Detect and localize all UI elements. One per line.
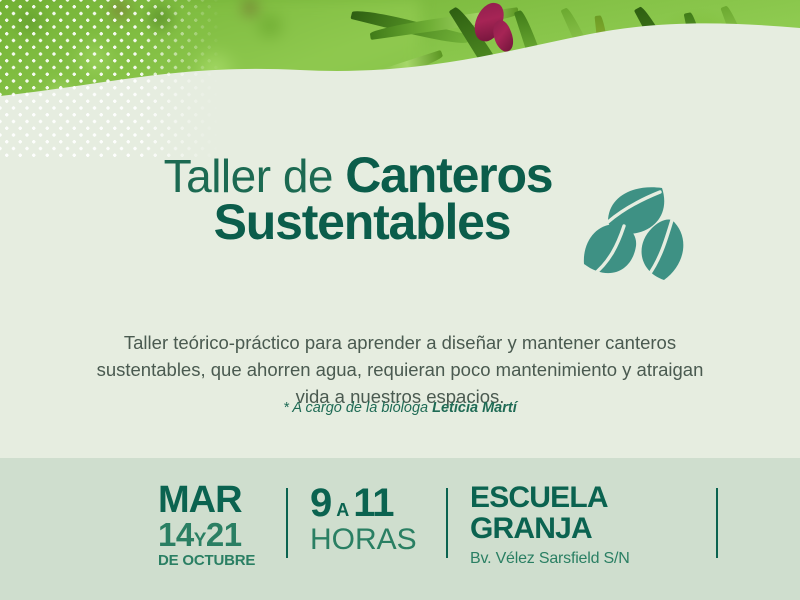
headline-bold-text-2: Sustentables xyxy=(214,194,511,250)
description-text: Taller teórico-práctico para aprender a … xyxy=(80,329,720,411)
poster-canvas: Taller de Canteros Sustentables Taller t… xyxy=(0,0,800,600)
date-conjunction: Y xyxy=(194,530,206,551)
place-line-1: ESCUELA xyxy=(470,482,630,513)
place-address: Bv. Vélez Sarsfield S/N xyxy=(470,550,630,568)
date-day-2: 21 xyxy=(206,516,242,553)
byline: * A cargo de la bióloga Leticia Martí xyxy=(80,400,720,416)
date-day-1: 14 xyxy=(158,516,194,553)
divider-2 xyxy=(446,488,448,558)
date-month: DE OCTUBRE xyxy=(158,552,255,570)
recycle-leaves-icon xyxy=(578,182,696,290)
time-end: 11 xyxy=(353,481,393,525)
time-range: 9A11 xyxy=(310,484,417,523)
byline-name: Leticia Martí xyxy=(432,400,517,416)
info-row: MAR 14Y21 DE OCTUBRE 9A11 HORAS ESCUELA … xyxy=(0,458,800,600)
time-block: 9A11 HORAS xyxy=(310,484,417,557)
time-start: 9 xyxy=(310,481,331,525)
date-weekday: MAR xyxy=(158,482,255,518)
divider-1 xyxy=(286,488,288,558)
date-days: 14Y21 xyxy=(158,518,255,552)
byline-prefix: * A cargo de la bióloga xyxy=(283,400,432,416)
place-line-2: GRANJA xyxy=(470,513,630,544)
time-unit: HORAS xyxy=(310,523,417,557)
place-block: ESCUELA GRANJA Bv. Vélez Sarsfield S/N xyxy=(470,482,630,568)
divider-3 xyxy=(716,488,718,558)
info-bar: MAR 14Y21 DE OCTUBRE 9A11 HORAS ESCUELA … xyxy=(0,458,800,600)
date-block: MAR 14Y21 DE OCTUBRE xyxy=(158,482,255,570)
time-separator: A xyxy=(331,500,353,520)
